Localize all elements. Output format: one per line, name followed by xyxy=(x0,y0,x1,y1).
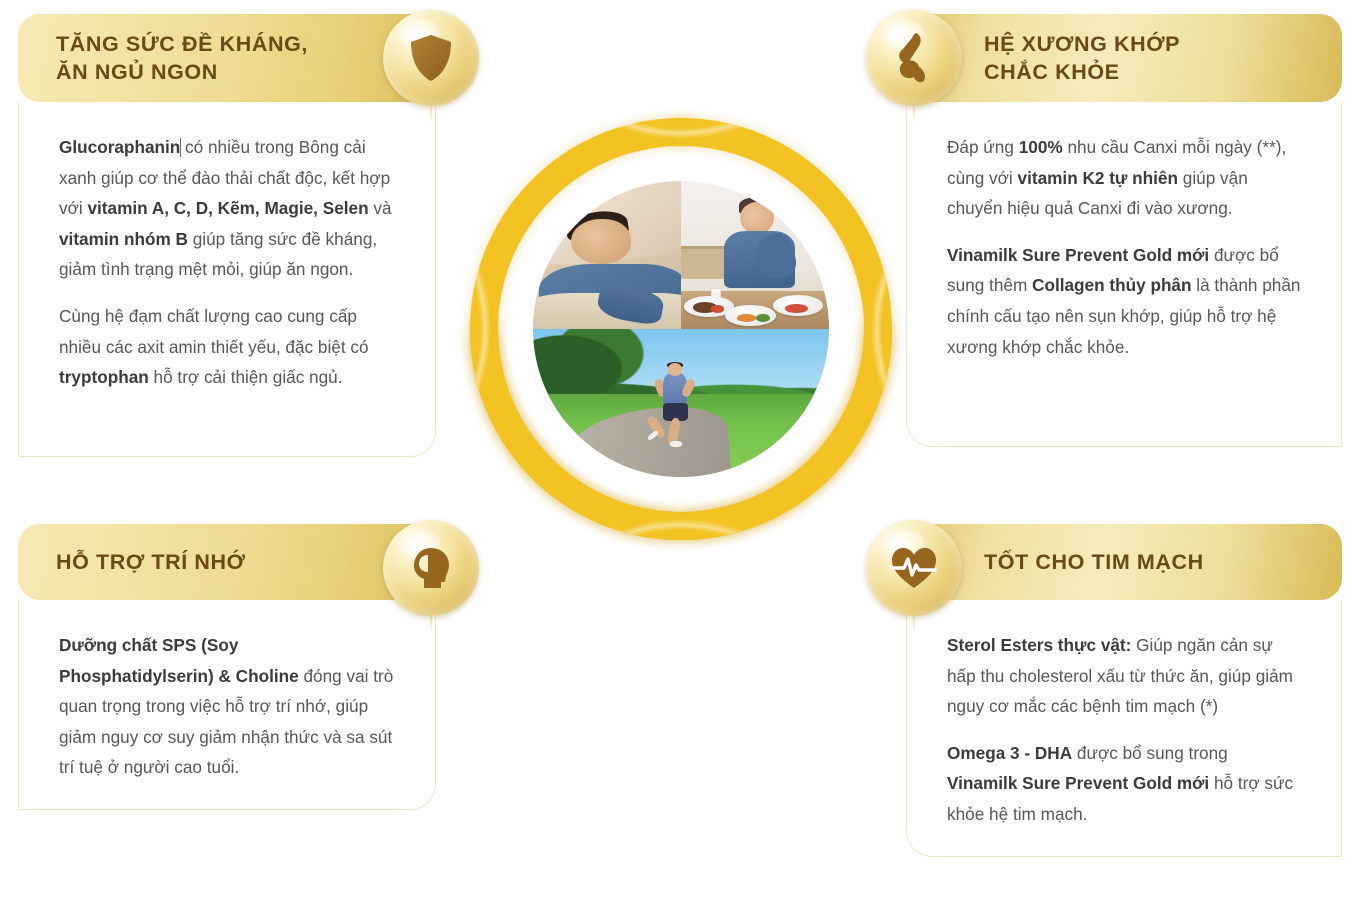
badge-stem xyxy=(430,608,432,634)
card-bone-header: HỆ XƯƠNG KHỚP CHẮC KHỎE xyxy=(872,14,1342,102)
text-run: được bổ sung trong xyxy=(1072,743,1228,763)
paragraph: Glucoraphanin có nhiều trong Bông cải xa… xyxy=(59,132,395,285)
card-bone: HỆ XƯƠNG KHỚP CHẮC KHỎE Đáp ứng 100% nhu… xyxy=(872,14,1342,447)
paragraph: Sterol Esters thực vật: Giúp ngăn cản sự… xyxy=(947,630,1301,722)
card-memory-title: HỖ TRỢ TRÍ NHỚ xyxy=(56,548,246,576)
shield-icon xyxy=(410,34,452,82)
gold-ring xyxy=(470,118,892,540)
card-memory: HỖ TRỢ TRÍ NHỚ Dưỡng chất SPS (Soy Phosp… xyxy=(18,524,473,810)
card-immunity-title: TĂNG SỨC ĐỀ KHÁNG, ĂN NGỦ NGON xyxy=(56,30,308,87)
head-brain-icon-badge xyxy=(383,520,479,616)
text-run: và xyxy=(369,198,392,218)
card-heart-header: TỐT CHO TIM MẠCH xyxy=(872,524,1342,600)
term-vitamins: vitamin A, C, D, Kẽm, Magie, Selen xyxy=(87,198,368,218)
text-run: Cùng hệ đạm chất lượng cao cung cấp nhiề… xyxy=(59,306,369,357)
term-sps-choline: Dưỡng chất SPS (Soy Phosphatidylserin) &… xyxy=(59,635,299,686)
card-immunity-body: Glucoraphanin có nhiều trong Bông cải xa… xyxy=(18,102,436,457)
term-omega-3-dha: Omega 3 - DHA xyxy=(947,743,1072,763)
heart-pulse-icon-badge xyxy=(866,520,962,616)
text-run: hỗ trợ cải thiện giấc ngủ. xyxy=(149,367,343,387)
term-100-percent: 100% xyxy=(1019,137,1063,157)
paragraph: Đáp ứng 100% nhu cầu Canxi mỗi ngày (**)… xyxy=(947,132,1301,224)
term-vitamin-b: vitamin nhóm B xyxy=(59,229,188,249)
term-tryptophan: tryptophan xyxy=(59,367,149,387)
badge-stem xyxy=(913,608,915,634)
card-memory-header: HỖ TRỢ TRÍ NHỚ xyxy=(18,524,473,600)
card-bone-title: HỆ XƯƠNG KHỚP CHẮC KHỎE xyxy=(984,30,1180,87)
bone-joint-icon-badge xyxy=(866,10,962,106)
term-collagen: Collagen thủy phân xyxy=(1032,275,1191,295)
lifestyle-collage-circle xyxy=(470,118,892,540)
text-run: Đáp ứng xyxy=(947,137,1019,157)
card-heart-body: Sterol Esters thực vật: Giúp ngăn cản sự… xyxy=(906,600,1342,857)
card-heart: TỐT CHO TIM MẠCH Sterol Esters thực vật:… xyxy=(872,524,1342,857)
badge-stem xyxy=(430,98,432,124)
card-immunity-header: TĂNG SỨC ĐỀ KHÁNG, ĂN NGỦ NGON xyxy=(18,14,473,102)
heart-pulse-icon xyxy=(890,546,938,590)
term-glucoraphanin: Glucoraphanin xyxy=(59,137,180,157)
card-bone-body: Đáp ứng 100% nhu cầu Canxi mỗi ngày (**)… xyxy=(906,102,1342,447)
card-heart-title: TỐT CHO TIM MẠCH xyxy=(984,548,1204,576)
term-sterol-esters: Sterol Esters thực vật: xyxy=(947,635,1131,655)
bone-joint-icon xyxy=(894,32,934,84)
paragraph: Omega 3 - DHA được bổ sung trong Vinamil… xyxy=(947,738,1301,830)
card-memory-body: Dưỡng chất SPS (Soy Phosphatidylserin) &… xyxy=(18,600,436,810)
paragraph: Dưỡng chất SPS (Soy Phosphatidylserin) &… xyxy=(59,630,395,783)
term-vitamin-k2: vitamin K2 tự nhiên xyxy=(1018,168,1178,188)
card-immunity: TĂNG SỨC ĐỀ KHÁNG, ĂN NGỦ NGON Glu xyxy=(18,14,473,457)
badge-stem xyxy=(913,98,915,124)
paragraph: Vinamilk Sure Prevent Gold mới được bổ s… xyxy=(947,240,1301,362)
shield-icon-badge xyxy=(383,10,479,106)
term-product-name: Vinamilk Sure Prevent Gold mới xyxy=(947,773,1209,793)
term-product-name: Vinamilk Sure Prevent Gold mới xyxy=(947,245,1209,265)
infographic-root: TĂNG SỨC ĐỀ KHÁNG, ĂN NGỦ NGON Glu xyxy=(0,0,1363,900)
head-brain-icon xyxy=(408,545,454,591)
paragraph: Cùng hệ đạm chất lượng cao cung cấp nhiề… xyxy=(59,301,395,393)
